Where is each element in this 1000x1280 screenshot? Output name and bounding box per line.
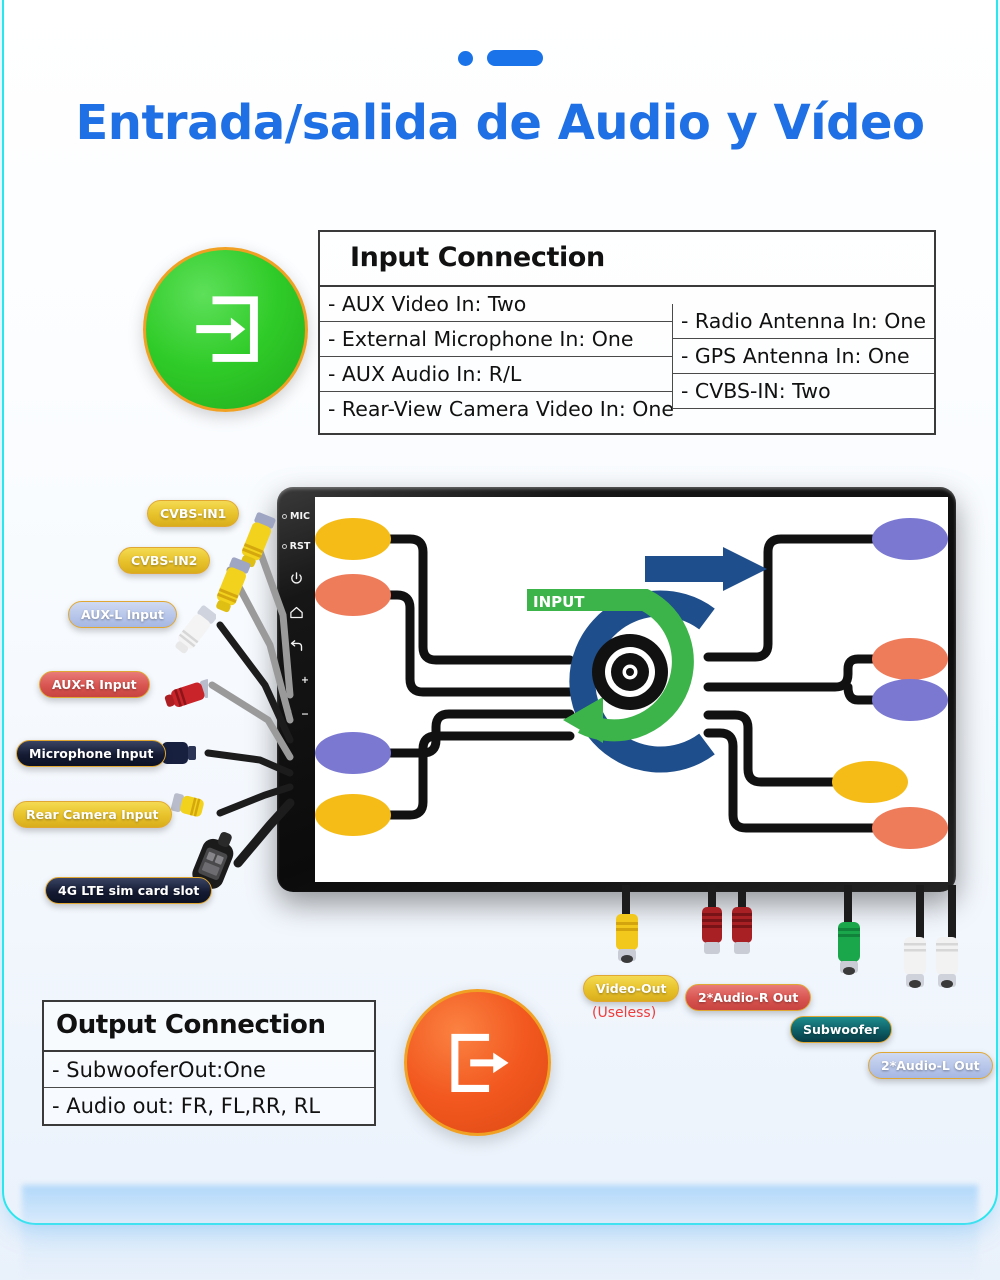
side-button-label: MIC bbox=[290, 511, 310, 522]
table-row: - External Microphone In: One bbox=[320, 322, 672, 357]
table-row: - AUX Audio In: R/L bbox=[320, 357, 672, 392]
side-button-volume-down[interactable]: − bbox=[283, 707, 309, 722]
head-unit-side-buttons: MIC RST bbox=[277, 497, 315, 882]
flow-node-left-3 bbox=[315, 732, 391, 774]
table-row: - Audio out: FR, FL,RR, RL bbox=[44, 1088, 374, 1124]
decorative-pill-icon bbox=[487, 50, 543, 66]
connector-label-subwoofer: Subwoofer bbox=[790, 1016, 892, 1043]
connector-label-sim-slot: 4G LTE sim card slot bbox=[45, 877, 212, 904]
power-icon bbox=[289, 571, 304, 586]
connector-label-cvbs-in1: CVBS-IN1 bbox=[147, 500, 239, 527]
table-row: - SubwooferOut:One bbox=[44, 1052, 374, 1088]
connector-label-audio-l-out: 2*Audio-L Out bbox=[868, 1052, 993, 1079]
back-arrow-icon bbox=[289, 639, 304, 654]
rca-red-plug bbox=[160, 665, 208, 727]
side-button-power[interactable] bbox=[289, 571, 304, 586]
car-head-unit: MIC RST bbox=[277, 487, 956, 892]
output-arrow-icon bbox=[437, 1022, 519, 1104]
rca-yellow-plug bbox=[166, 785, 216, 827]
side-button-back[interactable] bbox=[289, 639, 304, 654]
rca-green-plug bbox=[832, 920, 866, 982]
dot-indicator-icon bbox=[282, 544, 287, 549]
flow-node-left-2 bbox=[315, 574, 391, 616]
table-row: - CVBS-IN: Two bbox=[673, 374, 934, 409]
decorative-dot-icon bbox=[458, 51, 473, 66]
side-button-reset[interactable]: RST bbox=[282, 541, 311, 552]
side-button-label: + bbox=[301, 675, 309, 686]
flow-node-right-3 bbox=[872, 679, 948, 721]
connector-label-aux-r: AUX-R Input bbox=[39, 671, 150, 698]
speaker-icon bbox=[283, 707, 298, 722]
table-row: - GPS Antenna In: One bbox=[673, 339, 934, 374]
flow-node-right-2 bbox=[872, 638, 948, 680]
input-table-title: Input Connection bbox=[320, 232, 934, 287]
speaker-icon bbox=[283, 673, 298, 688]
gear-icon bbox=[592, 634, 668, 710]
connector-label-video-out: Video-Out bbox=[583, 975, 679, 1002]
side-button-mic[interactable]: MIC bbox=[282, 511, 310, 522]
input-arrow-label: INPUT bbox=[533, 593, 585, 611]
input-arrow-icon bbox=[179, 283, 271, 375]
output-badge bbox=[404, 989, 551, 1136]
output-connection-table: Output Connection - SubwooferOut:One - A… bbox=[42, 1000, 376, 1126]
head-unit-screen: OUTPUT INPUT bbox=[315, 497, 948, 882]
output-table-title: Output Connection bbox=[44, 1002, 374, 1052]
rca-yellow-plug bbox=[610, 912, 644, 972]
home-icon bbox=[289, 605, 304, 620]
table-row: - AUX Video In: Two bbox=[320, 287, 672, 322]
input-connection-table: Input Connection - AUX Video In: Two - E… bbox=[318, 230, 936, 435]
flow-node-left-1 bbox=[315, 518, 391, 560]
connector-label-aux-l: AUX-L Input bbox=[68, 601, 177, 628]
connector-label-microphone: Microphone Input bbox=[16, 740, 166, 767]
rca-yellow-plug bbox=[233, 509, 277, 581]
rca-white-plug-pair bbox=[900, 935, 966, 1005]
side-button-volume-up[interactable]: + bbox=[283, 673, 309, 688]
side-button-label: − bbox=[301, 709, 309, 720]
bottom-glow bbox=[22, 1185, 978, 1280]
connector-label-cvbs-in2: CVBS-IN2 bbox=[118, 547, 210, 574]
rca-yellow-plug bbox=[208, 554, 252, 626]
output-arrow-label: OUTPUT bbox=[562, 561, 640, 581]
flow-node-right-1 bbox=[872, 518, 948, 560]
dot-indicator-icon bbox=[282, 514, 287, 519]
side-button-home[interactable] bbox=[289, 605, 304, 620]
input-table-right-column: - Radio Antenna In: One - GPS Antenna In… bbox=[672, 304, 934, 409]
table-row: - Radio Antenna In: One bbox=[673, 304, 934, 339]
input-table-left-column: - AUX Video In: Two - External Microphon… bbox=[320, 287, 672, 427]
side-button-label: RST bbox=[290, 541, 311, 552]
flow-node-left-4 bbox=[315, 794, 391, 836]
flow-node-right-4 bbox=[832, 761, 908, 803]
flow-node-right-5 bbox=[872, 807, 948, 849]
rca-red-plug-pair bbox=[698, 905, 760, 967]
video-out-note: (Useless) bbox=[592, 1005, 656, 1021]
header-decoration bbox=[0, 50, 1000, 66]
signal-flow-diagram: OUTPUT INPUT bbox=[315, 497, 948, 882]
connector-label-rear-camera: Rear Camera Input bbox=[13, 801, 172, 828]
input-badge bbox=[143, 247, 308, 412]
infographic-page: Entrada/salida de Audio y Vídeo Input Co… bbox=[0, 0, 1000, 1280]
page-title: Entrada/salida de Audio y Vídeo bbox=[0, 95, 1000, 151]
connector-label-audio-r-out: 2*Audio-R Out bbox=[685, 984, 811, 1011]
